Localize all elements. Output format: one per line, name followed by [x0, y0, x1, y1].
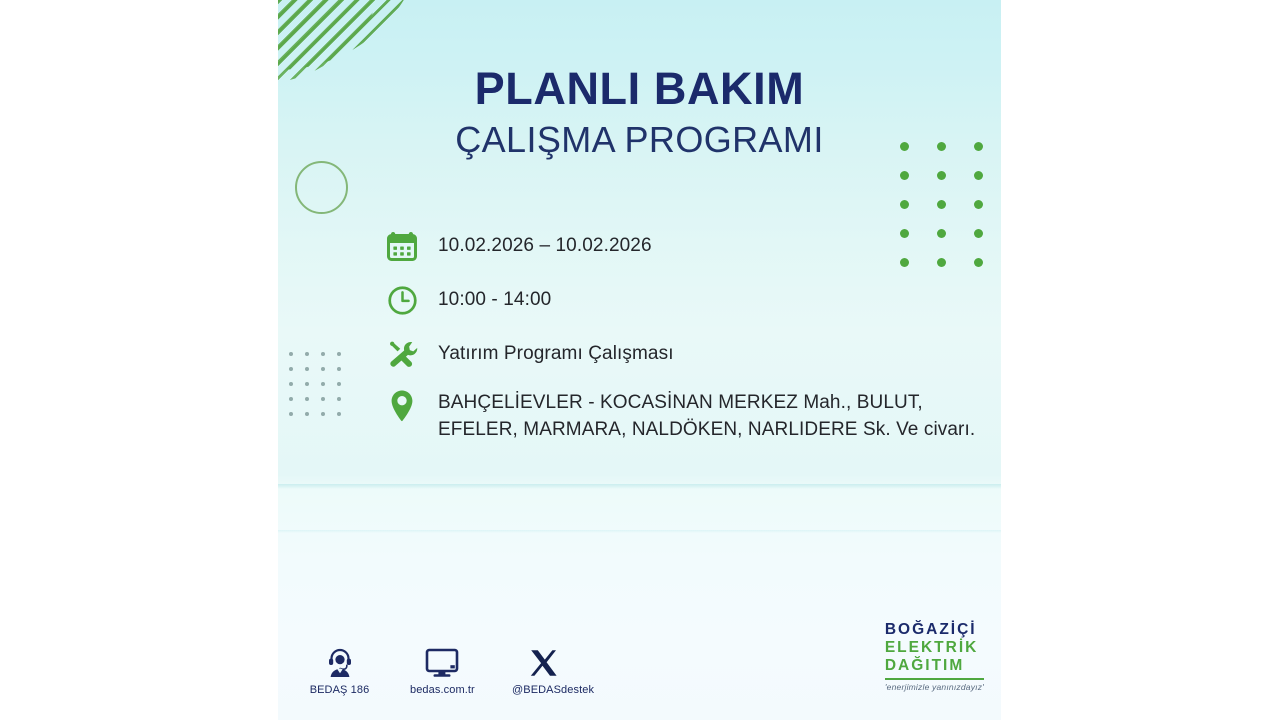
- poster-panel: PLANLI BAKIM ÇALIŞMA PROGRAMI: [278, 0, 1001, 720]
- bedas-logo: BOĞAZİÇİ ELEKTRİK DAĞITIM 'enerjimizle y…: [885, 621, 984, 692]
- panel-divider-band-2: [278, 530, 1001, 533]
- dot: [337, 397, 341, 401]
- headset-support-icon: [308, 638, 371, 678]
- dot: [337, 367, 341, 371]
- dot: [321, 382, 325, 386]
- dot: [337, 382, 341, 386]
- contact-channels: BEDAŞ 186 bedas.com.tr: [308, 638, 575, 696]
- dot: [974, 171, 983, 180]
- date-range-text: 10.02.2026 – 10.02.2026: [438, 226, 652, 260]
- logo-line-2: ELEKTRİK: [885, 639, 984, 657]
- dot: [305, 412, 309, 416]
- monitor-icon: [410, 638, 473, 678]
- info-list: 10.02.2026 – 10.02.2026 10:00 - 14:00: [382, 226, 982, 460]
- info-row-date: 10.02.2026 – 10.02.2026: [382, 226, 982, 266]
- dot-grid-left-decoration: [289, 352, 353, 427]
- page-title: PLANLI BAKIM: [278, 65, 1001, 112]
- contact-x[interactable]: @BEDASdestek: [512, 638, 575, 696]
- contact-x-label: @BEDASdestek: [512, 684, 575, 696]
- tools-icon: [382, 334, 422, 374]
- dot: [900, 200, 909, 209]
- dot: [289, 397, 293, 401]
- dot: [321, 397, 325, 401]
- info-row-location: BAHÇELİEVLER - KOCASİNAN MERKEZ Mah., BU…: [382, 386, 982, 444]
- info-row-time: 10:00 - 14:00: [382, 280, 982, 320]
- dot: [321, 367, 325, 371]
- page-subtitle: ÇALIŞMA PROGRAMI: [278, 120, 1001, 160]
- dot: [305, 352, 309, 356]
- contact-phone[interactable]: BEDAŞ 186: [308, 638, 371, 696]
- dot: [937, 200, 946, 209]
- dot: [289, 382, 293, 386]
- info-row-work-type: Yatırım Programı Çalışması: [382, 334, 982, 374]
- dot: [289, 352, 293, 356]
- dot: [900, 171, 909, 180]
- dot: [289, 412, 293, 416]
- work-type-text: Yatırım Programı Çalışması: [438, 334, 674, 368]
- dot: [937, 171, 946, 180]
- dot: [974, 200, 983, 209]
- location-text: BAHÇELİEVLER - KOCASİNAN MERKEZ Mah., BU…: [438, 386, 982, 444]
- contact-phone-label: BEDAŞ 186: [308, 684, 371, 696]
- logo-line-3: DAĞITIM: [885, 657, 984, 675]
- poster-header: PLANLI BAKIM ÇALIŞMA PROGRAMI: [278, 65, 1001, 160]
- x-twitter-icon: [512, 638, 575, 678]
- dot: [321, 352, 325, 356]
- logo-tagline: 'enerjimizle yanınızdayız': [885, 682, 984, 692]
- dot: [337, 412, 341, 416]
- logo-line-1: BOĞAZİÇİ: [885, 621, 984, 639]
- dot: [289, 367, 293, 371]
- dot: [305, 367, 309, 371]
- time-range-text: 10:00 - 14:00: [438, 280, 551, 314]
- dot: [305, 382, 309, 386]
- panel-divider-band: [278, 484, 1001, 489]
- dot: [321, 412, 325, 416]
- clock-icon: [382, 280, 422, 320]
- contact-website[interactable]: bedas.com.tr: [410, 638, 473, 696]
- circle-outline-decoration: [295, 161, 348, 214]
- dot: [337, 352, 341, 356]
- contact-website-label: bedas.com.tr: [410, 684, 473, 696]
- dot: [305, 397, 309, 401]
- poster-footer: BEDAŞ 186 bedas.com.tr: [278, 624, 1001, 704]
- logo-rule: [885, 678, 984, 680]
- calendar-icon: [382, 226, 422, 266]
- map-pin-icon: [382, 386, 422, 426]
